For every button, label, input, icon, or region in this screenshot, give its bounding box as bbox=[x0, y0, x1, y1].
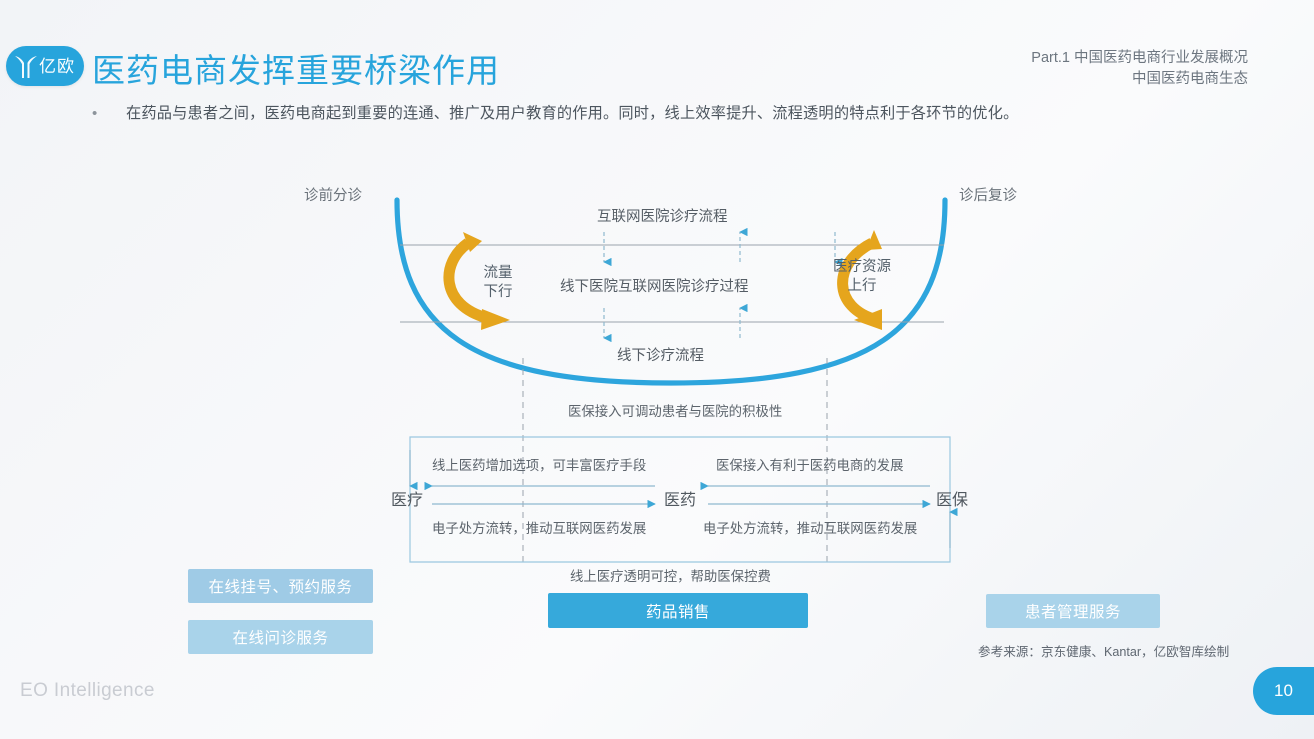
label-traffic-down-line2: 下行 bbox=[473, 283, 523, 302]
node-pharma: 医药 bbox=[664, 486, 696, 510]
label-insurance-motivation: 医保接入可调动患者与医院的积极性 bbox=[568, 400, 782, 420]
chip-online-registration[interactable]: 在线挂号、预约服务 bbox=[188, 569, 373, 603]
label-offline-flow: 线下诊疗流程 bbox=[617, 344, 704, 365]
chip-patient-management[interactable]: 患者管理服务 bbox=[986, 594, 1160, 628]
chip-online-consultation[interactable]: 在线问诊服务 bbox=[188, 620, 373, 654]
label-internet-hospital-flow: 互联网医院诊疗流程 bbox=[597, 205, 728, 226]
source-note: 参考来源：京东健康、Kantar，亿欧智库绘制 bbox=[978, 641, 1229, 660]
node-medical-care: 医疗 bbox=[391, 486, 423, 510]
label-edge-left-top: 线上医药增加选项，可丰富医疗手段 bbox=[432, 454, 646, 474]
gold-arrow-left-head bbox=[481, 309, 510, 330]
label-post-diagnosis: 诊后复诊 bbox=[959, 184, 1017, 205]
label-edge-right-top: 医保接入有利于医药电商的发展 bbox=[716, 454, 903, 474]
label-edge-left-bottom: 电子处方流转，推动互联网医药发展 bbox=[432, 517, 646, 537]
label-offline-online-process: 线下医院互联网医院诊疗过程 bbox=[560, 275, 749, 296]
label-traffic-down: 流量 下行 bbox=[473, 264, 523, 302]
label-traffic-down-line1: 流量 bbox=[473, 264, 523, 283]
chip-drug-sales[interactable]: 药品销售 bbox=[548, 593, 808, 628]
label-resources-up-line1: 医疗资源 bbox=[822, 258, 902, 277]
label-transparent-cost-control: 线上医疗透明可控，帮助医保控费 bbox=[570, 565, 771, 585]
label-resources-up: 医疗资源 上行 bbox=[822, 258, 902, 296]
page-number: 10 bbox=[1253, 667, 1314, 715]
label-edge-right-bottom: 电子处方流转，推动互联网医药发展 bbox=[703, 517, 917, 537]
label-resources-up-line2: 上行 bbox=[822, 277, 902, 296]
node-insurance: 医保 bbox=[936, 486, 968, 510]
label-pre-diagnosis: 诊前分诊 bbox=[304, 184, 362, 205]
brand-footer: EO Intelligence bbox=[20, 680, 155, 702]
slide-root: 亿欧 医药电商发挥重要桥梁作用 Part.1 中国医药电商行业发展概况 中国医药… bbox=[0, 0, 1314, 739]
